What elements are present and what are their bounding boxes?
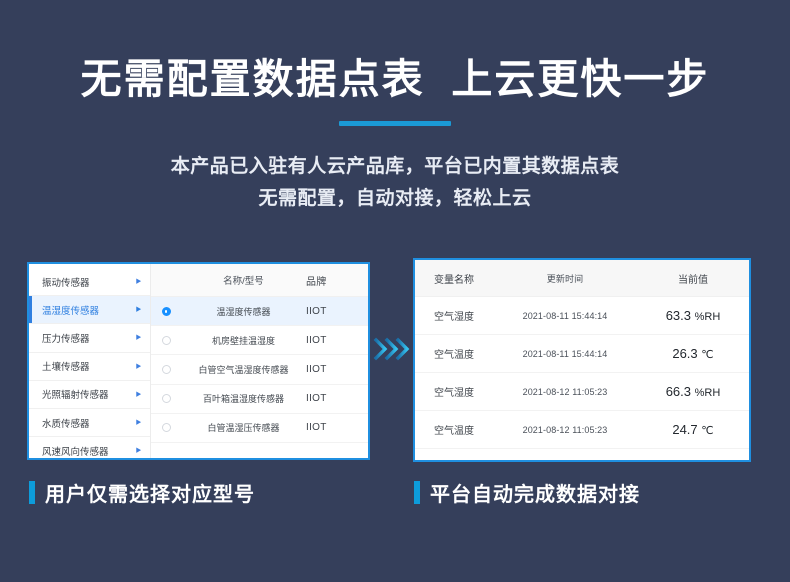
hero-subtitle-line-2: 无需配置，自动对接，轻松上云 [0,183,790,215]
model-brand-cell: IIOT [306,393,368,404]
variable-name-header: 变量名称 [415,271,493,286]
variable-table-header: 变量名称 更新时间 当前值 [415,260,749,297]
model-brand-cell: IIOT [306,306,368,317]
model-radio-cell[interactable] [151,365,181,374]
model-table: 名称/型号 品牌 温湿度传感器IIOT机房壁挂温湿度IIOT白管空气温湿度传感器… [151,264,368,458]
chevron-right-icon: ▶ [136,447,141,454]
variable-value-number: 66.3 [666,384,691,399]
table-row: 空气湿度2021-08-12 11:05:2366.3 %RH [415,373,749,411]
sidebar-item-label: 振动传感器 [42,275,90,289]
variable-value-unit: ℃ [701,349,713,361]
table-row[interactable]: 白管空气温湿度传感器IIOT [151,355,368,384]
model-radio-cell[interactable] [151,423,181,432]
table-row[interactable]: 机房壁挂温湿度IIOT [151,326,368,355]
sidebar-item-category[interactable]: 温湿度传感器▶ [29,296,150,324]
variable-updated-header: 更新时间 [493,272,637,285]
model-name-cell: 温湿度传感器 [181,305,306,318]
sidebar-item-label: 光照辐射传感器 [42,387,109,401]
model-brand-header: 品牌 [306,273,368,288]
variable-value-unit: ℃ [701,425,713,437]
model-brand-cell: IIOT [306,422,368,433]
caption-bar-icon [414,481,420,504]
variable-name-cell: 空气湿度 [415,384,493,399]
sidebar-item-category[interactable]: 振动传感器▶ [29,268,150,296]
sidebar-item-category[interactable]: 土壤传感器▶ [29,353,150,381]
variable-name-cell: 空气湿度 [415,308,493,323]
table-row[interactable]: 百叶箱温湿度传感器IIOT [151,385,368,414]
sidebar-item-label: 风速风向传感器 [42,444,109,458]
variable-value-cell: 66.3 %RH [637,384,749,399]
chevron-right-icon: ▶ [136,334,141,341]
table-row[interactable]: 白管温湿压传感器IIOT [151,414,368,443]
model-name-cell: 百叶箱温湿度传感器 [181,392,306,405]
triple-chevron-right-icon [372,332,412,366]
radio-button-icon[interactable] [162,423,171,432]
variable-value-number: 63.3 [666,308,691,323]
variable-value-number: 26.3 [672,346,697,361]
variable-updated-cell: 2021-08-11 15:44:14 [493,311,637,321]
model-table-header: 名称/型号 品牌 [151,264,368,297]
model-name-header: 名称/型号 [181,273,306,287]
variable-value-cell: 24.7 ℃ [637,422,749,437]
caption-left-label: 用户仅需选择对应型号 [45,478,255,507]
radio-button-icon[interactable] [162,394,171,403]
variable-value-unit: %RH [695,311,721,323]
chevron-right-icon: ▶ [136,278,141,285]
table-row: 空气温度2021-08-11 15:44:1426.3 ℃ [415,335,749,373]
variable-updated-cell: 2021-08-12 11:05:23 [493,387,637,397]
variable-value-header: 当前值 [637,271,749,286]
model-radio-cell[interactable] [151,307,181,316]
chevron-right-icon: ▶ [136,306,141,313]
variable-name-cell: 空气温度 [415,422,493,437]
sidebar-item-category[interactable]: 水质传感器▶ [29,409,150,437]
variable-value-unit: %RH [695,387,721,399]
model-table-body: 温湿度传感器IIOT机房壁挂温湿度IIOT白管空气温湿度传感器IIOT百叶箱温湿… [151,297,368,443]
model-name-cell: 白管温湿压传感器 [181,421,306,434]
chevron-right-icon: ▶ [136,391,141,398]
chevron-right-icon: ▶ [136,419,141,426]
hero-section: 无需配置数据点表 上云更快一步 本产品已入驻有人云产品库，平台已内置其数据点表 … [0,0,790,215]
product-selector-panel: 振动传感器▶温湿度传感器▶压力传感器▶土壤传感器▶光照辐射传感器▶水质传感器▶风… [27,262,370,460]
sidebar-item-label: 水质传感器 [42,416,90,430]
variable-table: 变量名称 更新时间 当前值 空气湿度2021-08-11 15:44:1463.… [415,260,749,460]
sidebar-item-label: 温湿度传感器 [42,303,99,317]
variable-value-number: 24.7 [672,422,697,437]
showcase-row: 振动传感器▶温湿度传感器▶压力传感器▶土壤传感器▶光照辐射传感器▶水质传感器▶风… [0,256,790,466]
hero-subtitle: 本产品已入驻有人云产品库，平台已内置其数据点表 无需配置，自动对接，轻松上云 [0,151,790,215]
table-row[interactable]: 温湿度传感器IIOT [151,297,368,326]
title-accent-rule [339,121,451,126]
sidebar-item-label: 压力传感器 [42,331,90,345]
variable-table-body: 空气湿度2021-08-11 15:44:1463.3 %RH空气温度2021-… [415,297,749,449]
model-radio-cell[interactable] [151,394,181,403]
sidebar-item-category[interactable]: 光照辐射传感器▶ [29,381,150,409]
hero-subtitle-line-1: 本产品已入驻有人云产品库，平台已内置其数据点表 [0,151,790,183]
caption-bar-icon [29,481,35,504]
caption-right-label: 平台自动完成数据对接 [430,478,640,507]
caption-right: 平台自动完成数据对接 [414,478,640,507]
sidebar-item-category[interactable]: 风速风向传感器▶ [29,437,150,460]
model-name-cell: 白管空气温湿度传感器 [181,363,306,376]
model-radio-cell[interactable] [151,336,181,345]
model-brand-cell: IIOT [306,364,368,375]
variable-name-cell: 空气温度 [415,346,493,361]
variable-value-cell: 26.3 ℃ [637,346,749,361]
model-brand-cell: IIOT [306,335,368,346]
chevron-right-icon: ▶ [136,363,141,370]
table-row: 空气温度2021-08-12 11:05:2324.7 ℃ [415,411,749,449]
captions-row: 用户仅需选择对应型号 平台自动完成数据对接 [0,478,790,518]
page-title: 无需配置数据点表 上云更快一步 [0,56,790,103]
sidebar-item-label: 土壤传感器 [42,359,90,373]
table-row: 空气湿度2021-08-11 15:44:1463.3 %RH [415,297,749,335]
model-name-cell: 机房壁挂温湿度 [181,334,306,347]
caption-left: 用户仅需选择对应型号 [29,478,255,507]
radio-button-icon[interactable] [162,336,171,345]
variable-data-panel: 变量名称 更新时间 当前值 空气湿度2021-08-11 15:44:1463.… [413,258,751,462]
sidebar-item-category[interactable]: 压力传感器▶ [29,324,150,352]
sensor-category-list[interactable]: 振动传感器▶温湿度传感器▶压力传感器▶土壤传感器▶光照辐射传感器▶水质传感器▶风… [29,264,151,458]
variable-updated-cell: 2021-08-12 11:05:23 [493,425,637,435]
radio-button-icon[interactable] [162,307,171,316]
variable-value-cell: 63.3 %RH [637,308,749,323]
radio-button-icon[interactable] [162,365,171,374]
variable-updated-cell: 2021-08-11 15:44:14 [493,349,637,359]
